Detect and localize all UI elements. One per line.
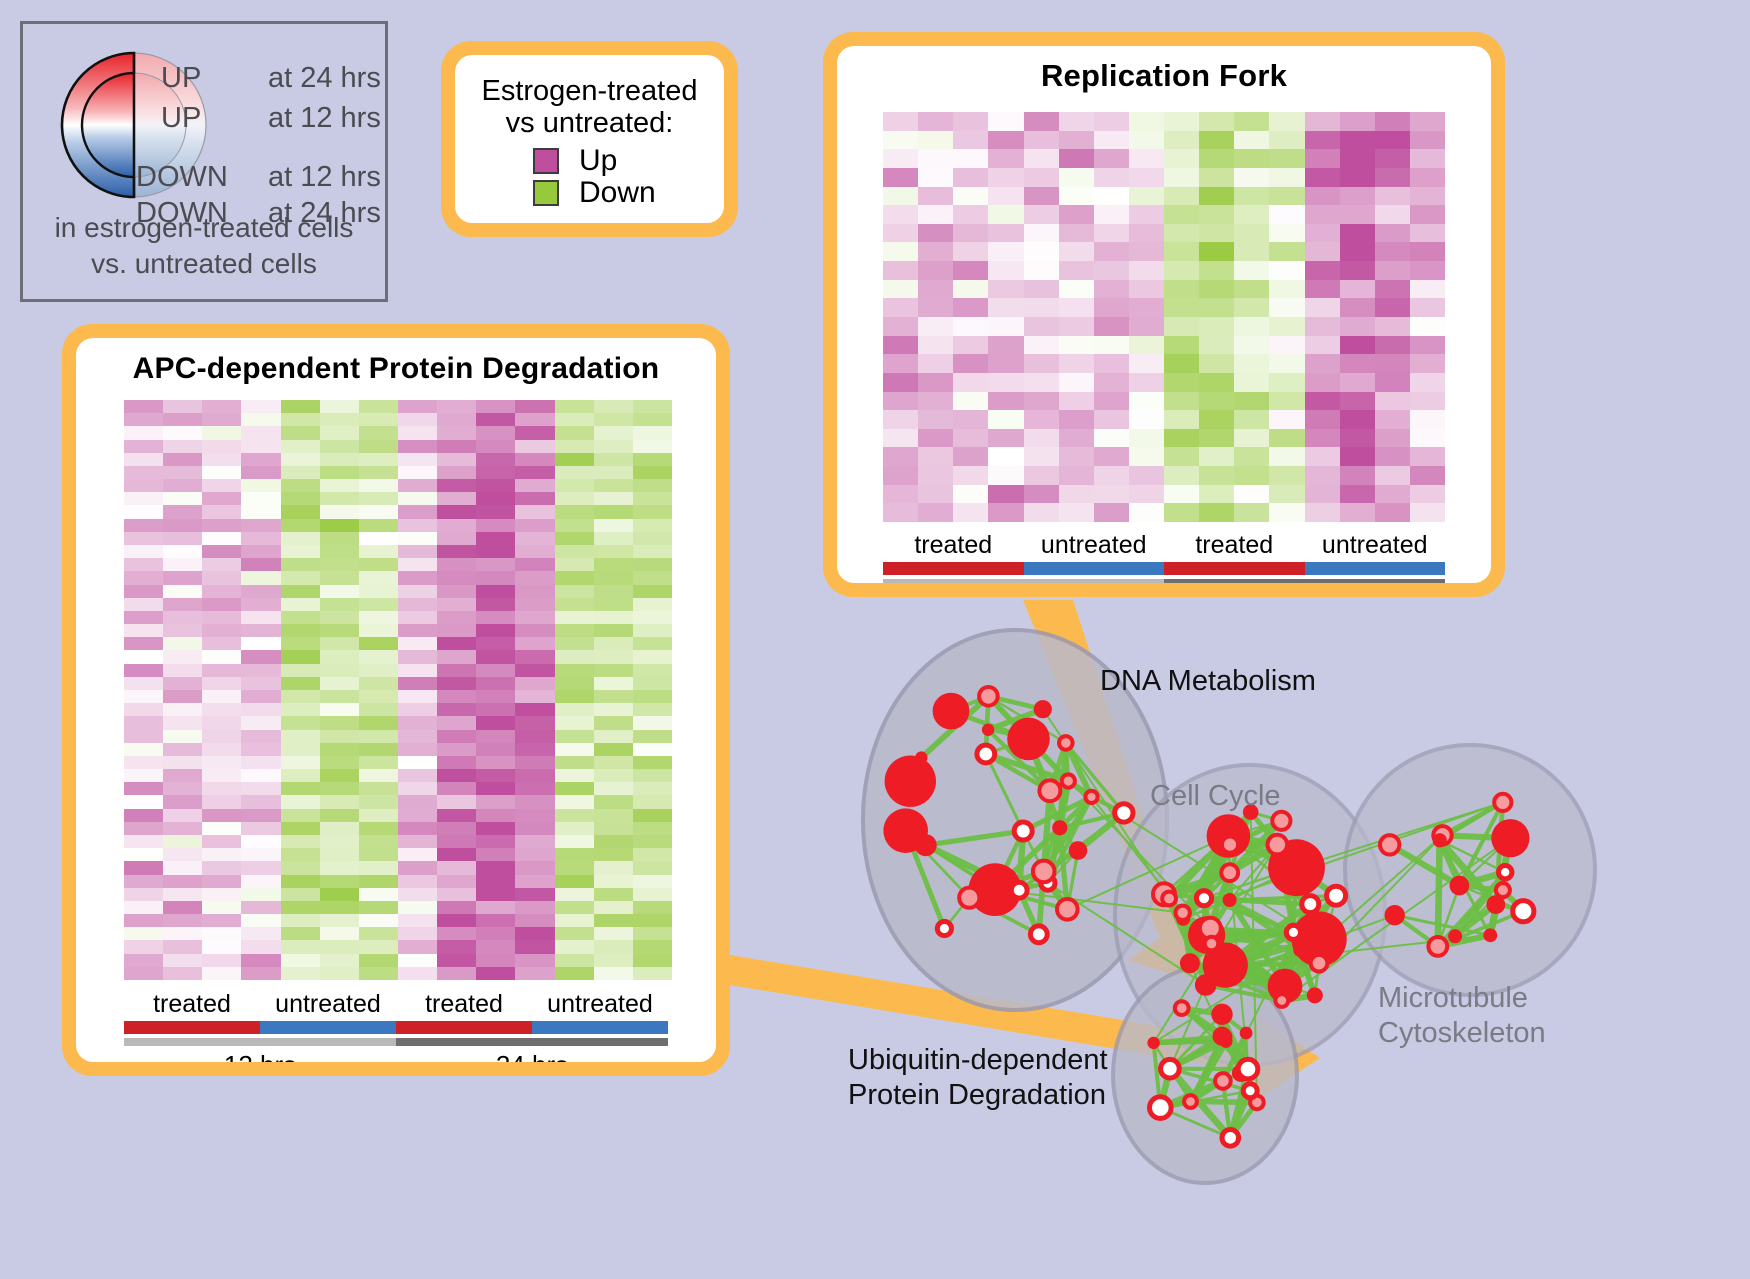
heatmap-cell	[281, 505, 320, 518]
heatmap-cell	[594, 466, 633, 479]
heatmap-cell	[1059, 280, 1094, 299]
heatmap-cell	[594, 927, 633, 940]
heatmap-cell	[163, 940, 202, 953]
heatmap-cell	[476, 413, 515, 426]
network-node	[1062, 774, 1075, 787]
heatmap-cell	[1234, 485, 1269, 504]
heatmap-cell	[437, 519, 476, 532]
network-node	[977, 745, 995, 763]
heatmap-cell	[124, 624, 163, 637]
heatmap-cell	[918, 112, 953, 131]
heatmap-cell	[515, 888, 554, 901]
heatmap-cell	[1234, 392, 1269, 411]
heatmap-cell	[1375, 242, 1410, 261]
heatmap-cell	[988, 261, 1023, 280]
heatmap-cell	[555, 901, 594, 914]
heatmap-cell	[437, 624, 476, 637]
heatmap-cell	[1305, 503, 1340, 522]
heatmap-cell	[515, 901, 554, 914]
network-node	[1433, 833, 1447, 847]
heatmap-cell	[555, 440, 594, 453]
heatmap-cell	[241, 492, 280, 505]
heatmap-cell	[515, 505, 554, 518]
heatmap-cell	[241, 716, 280, 729]
heatmap-cell	[594, 571, 633, 584]
heatmap-cell	[202, 440, 241, 453]
heatmap-cell	[883, 392, 918, 411]
heatmap-cell	[241, 453, 280, 466]
heatmap-cell	[1199, 242, 1234, 261]
heatmap-cell	[1199, 224, 1234, 243]
heatmap-cell	[1269, 503, 1304, 522]
heatmap-cell	[202, 571, 241, 584]
heatmap-cell	[594, 492, 633, 505]
heatmap-cell	[515, 835, 554, 848]
heatmap-cell	[476, 611, 515, 624]
heatmap-cell	[202, 650, 241, 663]
heatmap-cell	[1305, 242, 1340, 261]
heatmap-cell	[1375, 168, 1410, 187]
heatmap-cell	[476, 426, 515, 439]
heatmap-cell	[124, 782, 163, 795]
network-node	[1496, 883, 1510, 897]
heatmap-cell	[988, 392, 1023, 411]
heatmap-cell	[1199, 466, 1234, 485]
heatmap-cell	[398, 479, 437, 492]
heatmap-cell	[1199, 168, 1234, 187]
heatmap-cell	[1199, 187, 1234, 206]
heatmap-cell	[320, 848, 359, 861]
heatmap-cell	[633, 743, 672, 756]
heatmap-cell	[163, 756, 202, 769]
legend-title-line2: vs untreated:	[465, 107, 714, 139]
heatmap-cell	[1234, 112, 1269, 131]
network-node	[1491, 819, 1529, 857]
heatmap-cell	[1024, 131, 1059, 150]
network-node	[1215, 1073, 1231, 1089]
heatmap-cell	[1059, 149, 1094, 168]
heatmap-cell	[953, 336, 988, 355]
heatmap-cell	[1410, 503, 1445, 522]
heatmap-cell	[281, 413, 320, 426]
heatmap-cell	[555, 888, 594, 901]
heatmap-cell	[202, 888, 241, 901]
heatmap-cell	[883, 354, 918, 373]
heatmap-cell	[281, 716, 320, 729]
heatmap-cell	[124, 795, 163, 808]
heatmap-cell	[1129, 466, 1164, 485]
heatmap-cell	[241, 888, 280, 901]
heatmap-cell	[515, 677, 554, 690]
heatmap-cell	[241, 875, 280, 888]
heatmap-cell	[1199, 373, 1234, 392]
heatmap-cell	[359, 730, 398, 743]
heatmap-cell	[633, 888, 672, 901]
heatmap-cell	[1305, 168, 1340, 187]
heatmap-cell	[281, 901, 320, 914]
heatmap-cell	[633, 875, 672, 888]
heatmap-cell	[1164, 205, 1199, 224]
heatmap-cell	[594, 677, 633, 690]
replication-fork-axis: treateduntreatedtreateduntreated 12 hrs2…	[837, 531, 1491, 583]
heatmap-cell	[555, 400, 594, 413]
heatmap-cell	[515, 769, 554, 782]
heatmap-cell	[1234, 242, 1269, 261]
heatmap-cell	[515, 426, 554, 439]
heatmap-cell	[1094, 242, 1129, 261]
heatmap-cell	[359, 677, 398, 690]
heatmap-cell	[1340, 242, 1375, 261]
legend-row-2-keyword: DOWN	[136, 161, 228, 194]
network-node	[1011, 882, 1027, 898]
heatmap-cell	[202, 927, 241, 940]
heatmap-cell	[1094, 280, 1129, 299]
heatmap-cell	[953, 112, 988, 131]
heatmap-cell	[633, 545, 672, 558]
heatmap-cell	[437, 571, 476, 584]
replication-fork-group-labels: treateduntreatedtreateduntreated	[883, 531, 1445, 560]
heatmap-cell	[124, 664, 163, 677]
heatmap-cell	[594, 848, 633, 861]
heatmap-cell	[918, 280, 953, 299]
heatmap-cell	[515, 795, 554, 808]
heatmap-cell	[1129, 298, 1164, 317]
heatmap-cell	[398, 532, 437, 545]
heatmap-cell	[515, 809, 554, 822]
heatmap-cell	[594, 743, 633, 756]
heatmap-cell	[1269, 485, 1304, 504]
legend-item-up-label: Up	[579, 146, 617, 176]
heatmap-cell	[241, 545, 280, 558]
heatmap-cell	[555, 782, 594, 795]
heatmap-cell	[555, 426, 594, 439]
heatmap-cell	[953, 485, 988, 504]
heatmap-cell	[1059, 336, 1094, 355]
heatmap-cell	[1094, 466, 1129, 485]
heatmap-cell	[241, 967, 280, 980]
heatmap-cell	[1129, 242, 1164, 261]
heatmap-cell	[281, 650, 320, 663]
heatmap-cell	[124, 637, 163, 650]
heatmap-cell	[124, 466, 163, 479]
legend-row-1-time: at 12 hrs	[268, 102, 381, 134]
heatmap-cell	[1059, 447, 1094, 466]
heatmap-cell	[241, 532, 280, 545]
heatmap-cell	[1305, 131, 1340, 150]
heatmap-cell	[515, 954, 554, 967]
network-node	[1030, 926, 1047, 943]
heatmap-cell	[163, 400, 202, 413]
heatmap-cell	[202, 479, 241, 492]
heatmap-cell	[1340, 261, 1375, 280]
heatmap-cell	[1164, 466, 1199, 485]
heatmap-cell	[953, 392, 988, 411]
heatmap-cell	[555, 611, 594, 624]
heatmap-cell	[633, 769, 672, 782]
heatmap-cell	[163, 413, 202, 426]
heatmap-cell	[281, 954, 320, 967]
heatmap-cell	[1305, 261, 1340, 280]
cluster-label-dna-metabolism: DNA Metabolism	[1100, 665, 1316, 698]
heatmap-cell	[320, 888, 359, 901]
heatmap-cell	[1340, 317, 1375, 336]
heatmap-cell	[437, 848, 476, 861]
heatmap-cell	[202, 743, 241, 756]
heatmap-cell	[437, 558, 476, 571]
heatmap-cell	[594, 611, 633, 624]
heatmap-cell	[1305, 317, 1340, 336]
heatmap-cell	[320, 835, 359, 848]
heatmap-cell	[515, 875, 554, 888]
network-node	[1069, 841, 1088, 860]
heatmap-cell	[988, 373, 1023, 392]
heatmap-cell	[515, 822, 554, 835]
heatmap-cell	[953, 429, 988, 448]
heatmap-cell	[241, 901, 280, 914]
heatmap-cell	[241, 927, 280, 940]
heatmap-cell	[202, 756, 241, 769]
heatmap-cell	[1164, 317, 1199, 336]
network-node	[1486, 895, 1505, 914]
heatmap-cell	[476, 492, 515, 505]
heatmap-cell	[988, 485, 1023, 504]
network-node	[1268, 975, 1282, 989]
heatmap-cell	[359, 940, 398, 953]
heatmap-cell	[320, 545, 359, 558]
heatmap-cell	[124, 716, 163, 729]
heatmap-cell	[1410, 242, 1445, 261]
heatmap-cell	[1199, 280, 1234, 299]
heatmap-cell	[555, 914, 594, 927]
network-node	[1272, 812, 1290, 830]
heatmap-cell	[1024, 485, 1059, 504]
heatmap-cell	[1094, 373, 1129, 392]
heatmap-cell	[124, 440, 163, 453]
heatmap-cell	[359, 875, 398, 888]
heatmap-cell	[515, 914, 554, 927]
heatmap-cell	[281, 492, 320, 505]
heatmap-cell	[1164, 298, 1199, 317]
heatmap-cell	[163, 888, 202, 901]
heatmap-cell	[953, 298, 988, 317]
heatmap-cell	[515, 703, 554, 716]
heatmap-cell	[163, 505, 202, 518]
heatmap-cell	[555, 835, 594, 848]
heatmap-cell	[1129, 317, 1164, 336]
heatmap-cell	[163, 624, 202, 637]
heatmap-cell	[1269, 447, 1304, 466]
heatmap-cell	[241, 413, 280, 426]
network-node	[885, 756, 936, 807]
heatmap-cell	[437, 861, 476, 874]
network-node	[1448, 929, 1462, 943]
heatmap-cell	[1164, 242, 1199, 261]
heatmap-cell	[1129, 447, 1164, 466]
legend-item-down-label: Down	[579, 178, 656, 208]
network-node	[1195, 974, 1217, 996]
heatmap-cell	[163, 769, 202, 782]
heatmap-cell	[241, 848, 280, 861]
heatmap-cell	[320, 967, 359, 980]
heatmap-cell	[515, 690, 554, 703]
heatmap-cell	[202, 400, 241, 413]
heatmap-cell	[953, 466, 988, 485]
heatmap-cell	[1234, 466, 1269, 485]
network-node	[1222, 1130, 1239, 1147]
network-node	[1161, 1059, 1180, 1078]
heatmap-cell	[1375, 149, 1410, 168]
down-swatch-icon	[533, 180, 559, 206]
heatmap-cell	[1094, 503, 1129, 522]
heatmap-cell	[988, 410, 1023, 429]
heatmap-cell	[1129, 149, 1164, 168]
heatmap-cell	[202, 545, 241, 558]
heatmap-cell	[359, 901, 398, 914]
network-node	[1327, 886, 1346, 905]
heatmap-cell	[476, 664, 515, 677]
heatmap-cell	[515, 453, 554, 466]
heatmap-cell	[555, 954, 594, 967]
heatmap-cell	[953, 503, 988, 522]
heatmap-cell	[202, 558, 241, 571]
network-node	[1085, 791, 1097, 803]
heatmap-cell	[437, 585, 476, 598]
heatmap-cell	[594, 756, 633, 769]
heatmap-cell	[1199, 317, 1234, 336]
heatmap-cell	[1340, 466, 1375, 485]
heatmap-cell	[1164, 503, 1199, 522]
axis-group-bar	[396, 1021, 532, 1034]
heatmap-cell	[320, 637, 359, 650]
heatmap-cell	[1340, 373, 1375, 392]
network-node	[1205, 937, 1219, 951]
heatmap-cell	[124, 703, 163, 716]
heatmap-cell	[633, 716, 672, 729]
heatmap-cell	[555, 940, 594, 953]
heatmap-cell	[555, 598, 594, 611]
heatmap-cell	[202, 453, 241, 466]
heatmap-cell	[124, 532, 163, 545]
heatmap-cell	[163, 967, 202, 980]
heatmap-cell	[1024, 280, 1059, 299]
heatmap-cell	[918, 224, 953, 243]
heatmap-cell	[281, 479, 320, 492]
heatmap-cell	[633, 809, 672, 822]
heatmap-cell	[359, 637, 398, 650]
heatmap-cell	[437, 940, 476, 953]
heatmap-cell	[988, 354, 1023, 373]
apc-degradation-title: APC-dependent Protein Degradation	[76, 338, 716, 386]
heatmap-cell	[241, 650, 280, 663]
legend-row-0-keyword: UP	[161, 62, 201, 95]
heatmap-cell	[594, 532, 633, 545]
heatmap-cell	[515, 967, 554, 980]
heatmap-cell	[281, 782, 320, 795]
heatmap-cell	[1234, 298, 1269, 317]
heatmap-cell	[241, 743, 280, 756]
heatmap-cell	[124, 756, 163, 769]
heatmap-cell	[359, 558, 398, 571]
heatmap-cell	[1375, 354, 1410, 373]
heatmap-cell	[1340, 485, 1375, 504]
heatmap-cell	[320, 927, 359, 940]
heatmap-cell	[202, 730, 241, 743]
heatmap-cell	[281, 532, 320, 545]
heatmap-cell	[988, 336, 1023, 355]
heatmap-cell	[633, 861, 672, 874]
heatmap-cell	[953, 187, 988, 206]
heatmap-cell	[515, 624, 554, 637]
heatmap-cell	[1199, 429, 1234, 448]
heatmap-cell	[281, 795, 320, 808]
heatmap-cell	[633, 782, 672, 795]
heatmap-cell	[320, 769, 359, 782]
network-node	[1039, 780, 1060, 801]
heatmap-cell	[437, 822, 476, 835]
heatmap-cell	[476, 650, 515, 663]
heatmap-cell	[1410, 149, 1445, 168]
heatmap-cell	[437, 716, 476, 729]
heatmap-cell	[398, 822, 437, 835]
heatmap-cell	[359, 453, 398, 466]
heatmap-cell	[594, 637, 633, 650]
heatmap-cell	[1269, 149, 1304, 168]
heatmap-cell	[1375, 205, 1410, 224]
heatmap-cell	[594, 703, 633, 716]
heatmap-cell	[1234, 317, 1269, 336]
heatmap-cell	[202, 413, 241, 426]
circle-legend-footer: in estrogen-treated cells vs. untreated …	[23, 210, 385, 282]
heatmap-cell	[163, 637, 202, 650]
heatmap-cell	[320, 650, 359, 663]
heatmap-cell	[320, 571, 359, 584]
heatmap-cell	[398, 611, 437, 624]
heatmap-cell	[437, 756, 476, 769]
heatmap-cell	[515, 861, 554, 874]
heatmap-cell	[988, 447, 1023, 466]
heatmap-cell	[476, 703, 515, 716]
heatmap-cell	[953, 317, 988, 336]
heatmap-cell	[476, 637, 515, 650]
replication-fork-title: Replication Fork	[837, 46, 1491, 94]
heatmap-cell	[476, 545, 515, 558]
heatmap-cell	[918, 168, 953, 187]
heatmap-cell	[281, 664, 320, 677]
heatmap-cell	[988, 280, 1023, 299]
heatmap-cell	[1024, 224, 1059, 243]
heatmap-cell	[359, 967, 398, 980]
network-node	[1286, 925, 1300, 939]
heatmap-cell	[359, 822, 398, 835]
heatmap-cell	[1024, 354, 1059, 373]
heatmap-cell	[918, 298, 953, 317]
axis-group-label: treated	[396, 990, 532, 1019]
heatmap-cell	[124, 769, 163, 782]
heatmap-cell	[594, 650, 633, 663]
heatmap-cell	[359, 861, 398, 874]
heatmap-cell	[953, 354, 988, 373]
heatmap-cell	[437, 769, 476, 782]
heatmap-cell	[1129, 336, 1164, 355]
heatmap-cell	[281, 426, 320, 439]
heatmap-cell	[633, 400, 672, 413]
heatmap-cell	[320, 413, 359, 426]
heatmap-cell	[202, 716, 241, 729]
heatmap-cell	[1059, 298, 1094, 317]
heatmap-cell	[124, 558, 163, 571]
heatmap-cell	[241, 440, 280, 453]
heatmap-cell	[437, 611, 476, 624]
